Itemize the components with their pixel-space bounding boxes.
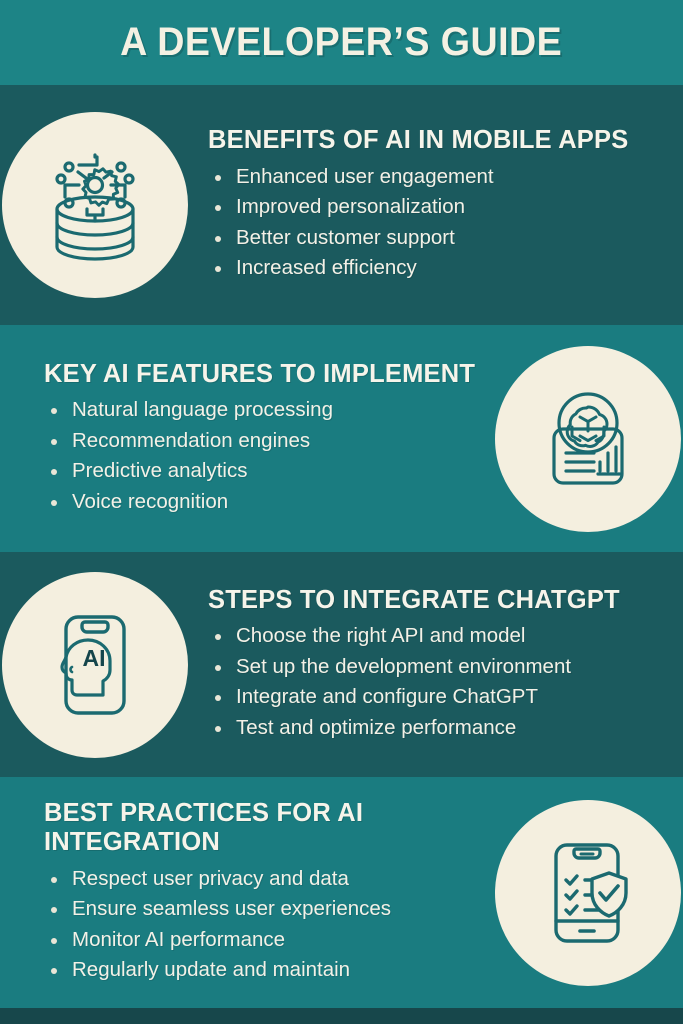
list-item: Increased efficiency <box>208 253 669 284</box>
icon-wrap-best-practices <box>493 800 683 986</box>
list-item: Recommendation engines <box>44 426 479 457</box>
icon-wrap-key-features <box>493 346 683 532</box>
phone-checklist-shield-icon <box>495 800 681 986</box>
icon-ai-label: AI <box>83 645 106 671</box>
footer-bar <box>0 1008 683 1024</box>
section-benefits: BENEFITS OF AI IN MOBILE APPS Enhanced u… <box>0 85 683 325</box>
poster-header: A DEVELOPER’S GUIDE <box>0 0 683 85</box>
section-best-practices: BEST PRACTICES FOR AI INTEGRATION Respec… <box>0 777 683 1008</box>
ai-database-gear-icon <box>2 112 188 298</box>
content-key-features: KEY AI FEATURES TO IMPLEMENT Natural lan… <box>0 360 493 518</box>
page-title: A DEVELOPER’S GUIDE <box>120 20 562 65</box>
phone-ai-head-icon: AI <box>2 572 188 758</box>
icon-wrap-steps: AI <box>0 572 190 758</box>
infographic-poster: A DEVELOPER’S GUIDE <box>0 0 683 1024</box>
list-item: Test and optimize performance <box>208 713 669 744</box>
list-item: Enhanced user engagement <box>208 162 669 193</box>
list-item: Natural language processing <box>44 395 479 426</box>
bullet-list-benefits: Enhanced user engagement Improved person… <box>208 162 669 284</box>
content-benefits: BENEFITS OF AI IN MOBILE APPS Enhanced u… <box>190 126 683 284</box>
section-title-best-practices: BEST PRACTICES FOR AI INTEGRATION <box>44 799 479 857</box>
section-key-features: KEY AI FEATURES TO IMPLEMENT Natural lan… <box>0 325 683 552</box>
section-steps-integrate: AI STEPS TO INTEGRATE CHATGPT Choose the… <box>0 552 683 777</box>
list-item: Choose the right API and model <box>208 621 669 652</box>
section-title-steps: STEPS TO INTEGRATE CHATGPT <box>208 586 669 615</box>
list-item: Monitor AI performance <box>44 925 479 956</box>
list-item: Better customer support <box>208 223 669 254</box>
list-item: Predictive analytics <box>44 456 479 487</box>
bullet-list-key-features: Natural language processing Recommendati… <box>44 395 479 517</box>
bullet-list-best-practices: Respect user privacy and data Ensure sea… <box>44 864 479 986</box>
list-item: Ensure seamless user experiences <box>44 894 479 925</box>
openai-document-chart-icon <box>495 346 681 532</box>
content-steps: STEPS TO INTEGRATE CHATGPT Choose the ri… <box>190 586 683 744</box>
icon-wrap-benefits <box>0 112 190 298</box>
list-item: Integrate and configure ChatGPT <box>208 682 669 713</box>
list-item: Regularly update and maintain <box>44 955 479 986</box>
section-title-key-features: KEY AI FEATURES TO IMPLEMENT <box>44 360 479 389</box>
content-best-practices: BEST PRACTICES FOR AI INTEGRATION Respec… <box>0 799 493 986</box>
list-item: Improved personalization <box>208 192 669 223</box>
section-title-benefits: BENEFITS OF AI IN MOBILE APPS <box>208 126 669 155</box>
list-item: Respect user privacy and data <box>44 864 479 895</box>
bullet-list-steps: Choose the right API and model Set up th… <box>208 621 669 743</box>
list-item: Set up the development environment <box>208 652 669 683</box>
list-item: Voice recognition <box>44 487 479 518</box>
